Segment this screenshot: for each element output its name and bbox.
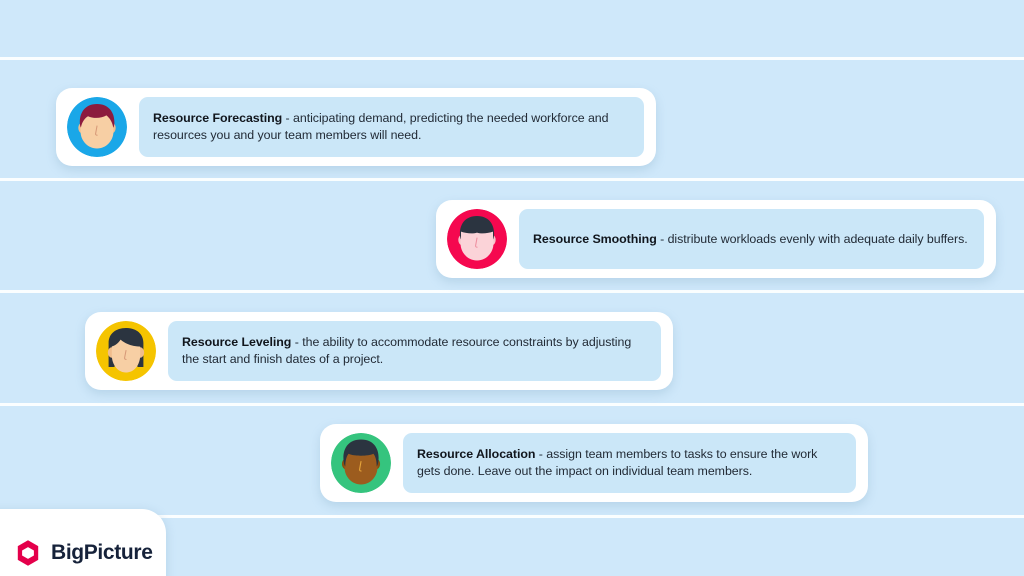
description-bubble: Resource Allocation - assign team member… xyxy=(403,433,856,493)
item-separator: - xyxy=(657,232,668,246)
info-card-resource-forecasting[interactable]: Resource Forecasting - anticipating dema… xyxy=(56,88,656,166)
avatar-resource-smoothing xyxy=(447,209,507,269)
avatar-resource-forecasting xyxy=(67,97,127,157)
info-card-resource-smoothing[interactable]: Resource Smoothing - distribute workload… xyxy=(436,200,996,278)
item-term: Resource Forecasting xyxy=(153,111,282,125)
item-term: Resource Smoothing xyxy=(533,232,657,246)
band-divider xyxy=(0,178,1024,181)
band-divider xyxy=(0,403,1024,406)
logo-wordmark: BigPicture xyxy=(51,541,153,565)
item-separator: - xyxy=(535,447,546,461)
info-card-resource-allocation[interactable]: Resource Allocation - assign team member… xyxy=(320,424,868,502)
item-separator: - xyxy=(282,111,293,125)
item-separator: - xyxy=(291,335,302,349)
description-bubble: Resource Leveling - the ability to accom… xyxy=(168,321,661,381)
item-term: Resource Leveling xyxy=(182,335,291,349)
item-term: Resource Allocation xyxy=(417,447,535,461)
description-bubble: Resource Smoothing - distribute workload… xyxy=(519,209,984,269)
info-card-resource-leveling[interactable]: Resource Leveling - the ability to accom… xyxy=(85,312,673,390)
band-divider xyxy=(0,290,1024,293)
item-description: distribute workloads evenly with adequat… xyxy=(668,232,968,246)
logo-plate: BigPicture xyxy=(0,509,166,576)
bigpicture-hexagon-logo-icon xyxy=(14,539,42,567)
description-bubble: Resource Forecasting - anticipating dema… xyxy=(139,97,644,157)
avatar-resource-allocation xyxy=(331,433,391,493)
avatar-resource-leveling xyxy=(96,321,156,381)
band-divider xyxy=(0,57,1024,60)
canvas: Resource Forecasting - anticipating dema… xyxy=(0,0,1024,576)
